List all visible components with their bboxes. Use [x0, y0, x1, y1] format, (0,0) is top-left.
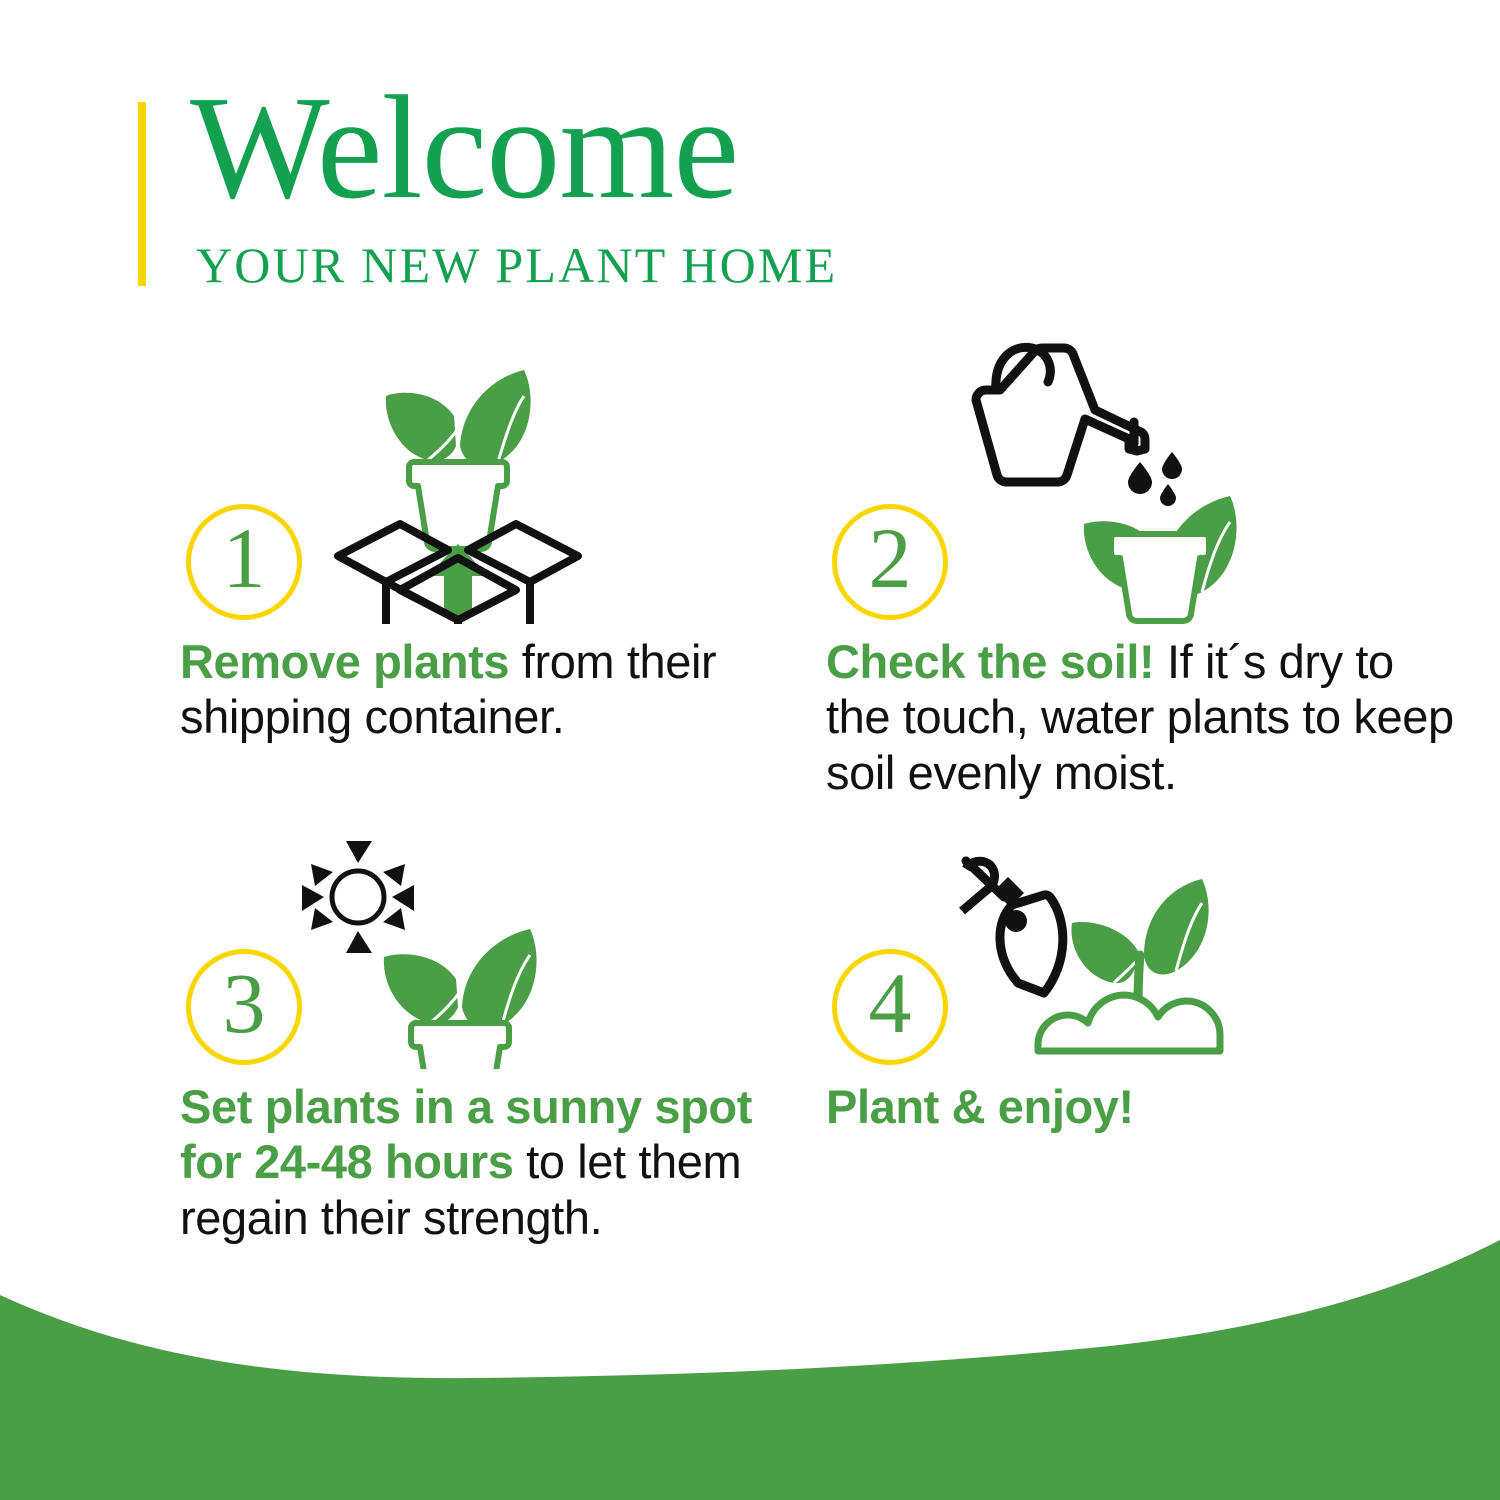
step-1-highlight: Remove plants [180, 635, 509, 688]
step-1: 1 [180, 330, 800, 790]
step-2-header: 2 [826, 330, 1466, 620]
step-2-text: Check the soil! If it´s dry to the touch… [826, 634, 1466, 800]
step-2-number-badge: 2 [832, 504, 948, 620]
step-4-text: Plant & enjoy! [826, 1079, 1466, 1134]
step-1-number: 1 [223, 515, 266, 601]
sun-glyph [302, 841, 414, 953]
watering-can-and-potted-plant-icon [954, 334, 1294, 624]
step-2: 2 [826, 330, 1466, 790]
step-2-number: 2 [869, 515, 912, 601]
page-subtitle: YOUR NEW PLANT HOME [196, 240, 837, 290]
green-wave-band [0, 1240, 1500, 1500]
page-title: Welcome [190, 74, 738, 222]
step-3-number: 3 [223, 960, 266, 1046]
step-3-header: 3 [180, 840, 800, 1065]
infographic-page: Welcome YOUR NEW PLANT HOME 1 [0, 0, 1500, 1500]
step-4-header: 4 [826, 840, 1466, 1065]
step-4-highlight: Plant & enjoy! [826, 1080, 1134, 1133]
step-4-number: 4 [869, 960, 912, 1046]
trowel-and-seedling-in-soil-icon [946, 839, 1286, 1069]
step-1-text: Remove plants from their shipping contai… [180, 634, 800, 745]
step-4-number-badge: 4 [832, 949, 948, 1065]
step-2-highlight: Check the soil! [826, 635, 1154, 688]
step-3-text: Set plants in a sunny spot for 24-48 hou… [180, 1079, 800, 1245]
step-1-number-badge: 1 [186, 504, 302, 620]
plant-leaving-shipping-box-icon [328, 334, 588, 624]
sun-and-potted-plant-icon [290, 839, 590, 1069]
header: Welcome YOUR NEW PLANT HOME [138, 100, 1138, 290]
step-1-header: 1 [180, 330, 800, 620]
yellow-accent-bar [138, 102, 146, 286]
step-3-number-badge: 3 [186, 949, 302, 1065]
